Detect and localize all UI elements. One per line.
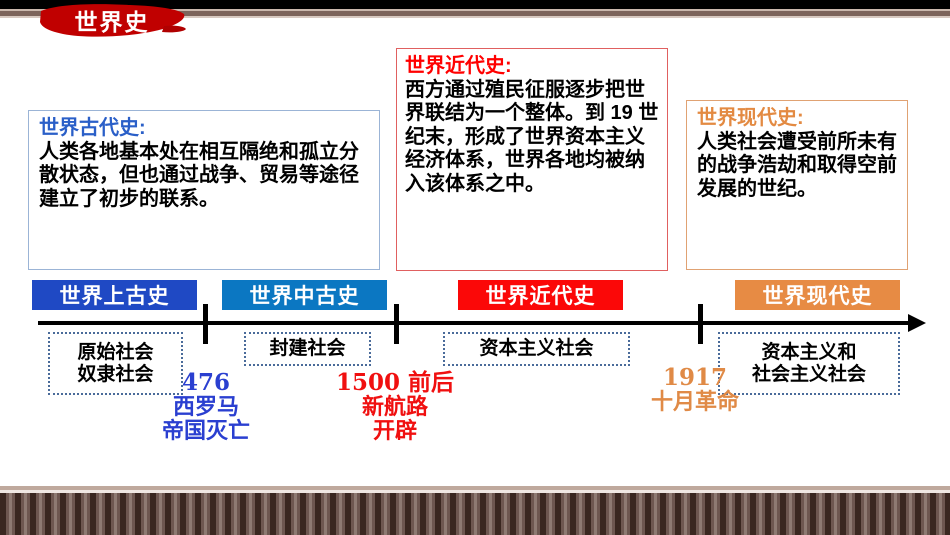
slide-canvas: 世界史 世界古代史: 人类各地基本处在相互隔绝和孤立分散状态，但也通过战争、贸易… — [0, 0, 950, 535]
marker-1500: 1500 前后 新航路 开辟 — [320, 370, 470, 444]
timeline-axis — [38, 321, 916, 325]
marker-1917: 1917 十月革命 — [630, 365, 760, 414]
marker-event-line-1: 新航路 — [320, 395, 470, 419]
right-arrow-icon — [908, 314, 926, 332]
marker-event-line-1: 十月革命 — [630, 390, 760, 414]
society-line-1: 原始社会 — [77, 342, 153, 363]
description-box-modern: 世界近代史: 西方通过殖民征服逐步把世界联结为一个整体。到 19 世纪末，形成了… — [396, 48, 668, 271]
title-banner: 世界史 — [38, 2, 186, 38]
description-heading-contemporary: 世界现代史: — [697, 107, 901, 131]
marker-year: 1500 前后 — [320, 370, 470, 395]
society-box-feudal: 封建社会 — [244, 332, 371, 366]
marker-event-line-1: 西罗马 — [160, 395, 252, 419]
description-body-ancient: 人类各地基本处在相互隔绝和孤立分散状态，但也通过战争、贸易等途径建立了初步的联系… — [39, 141, 371, 212]
marker-476: 476 西罗马 帝国灭亡 — [160, 370, 252, 444]
marker-year: 1917 — [630, 365, 760, 390]
title-banner-text: 世界史 — [38, 2, 186, 38]
description-box-ancient: 世界古代史: 人类各地基本处在相互隔绝和孤立分散状态，但也通过战争、贸易等途径建… — [28, 110, 380, 270]
description-box-contemporary: 世界现代史: 人类社会遭受前所未有的战争浩劫和取得空前发展的世纪。 — [686, 100, 908, 270]
society-line-2: 社会主义社会 — [752, 364, 866, 385]
description-heading-modern: 世界近代史: — [405, 55, 661, 79]
marker-event-line-2: 开辟 — [320, 419, 470, 443]
marker-event-line-2: 帝国灭亡 — [160, 419, 252, 443]
society-line-1: 封建社会 — [269, 338, 345, 359]
marker-year: 476 — [160, 370, 252, 395]
timeline-tick-1917 — [698, 304, 703, 344]
description-heading-ancient: 世界古代史: — [39, 117, 371, 141]
description-body-contemporary: 人类社会遭受前所未有的战争浩劫和取得空前发展的世纪。 — [697, 131, 901, 202]
society-line-2: 奴隶社会 — [77, 364, 153, 385]
timeline-tick-476 — [203, 304, 208, 344]
era-bar-jindai: 世界近代史 — [458, 280, 623, 310]
bottom-striped-band — [0, 493, 950, 535]
timeline-tick-1500 — [394, 304, 399, 344]
society-line-1: 资本主义社会 — [479, 338, 593, 359]
era-bar-xiandai: 世界现代史 — [735, 280, 900, 310]
society-line-1: 资本主义和 — [761, 342, 856, 363]
era-bar-zhonggu: 世界中古史 — [222, 280, 387, 310]
description-body-modern: 西方通过殖民征服逐步把世界联结为一个整体。到 19 世纪末，形成了世界资本主义经… — [405, 79, 661, 197]
society-box-capitalist: 资本主义社会 — [443, 332, 630, 366]
era-bar-shanggu: 世界上古史 — [32, 280, 197, 310]
